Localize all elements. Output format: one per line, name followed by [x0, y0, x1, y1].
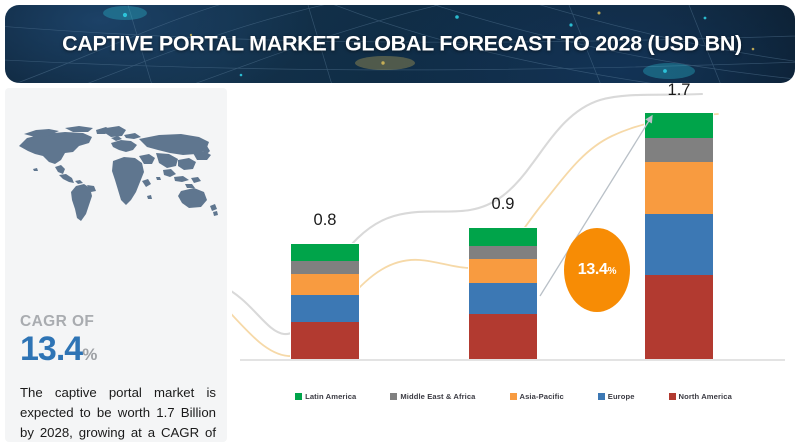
cagr-block: CAGR OF 13.4%: [20, 314, 220, 366]
legend-swatch-icon: [510, 393, 517, 400]
legend-label: Asia-Pacific: [520, 392, 564, 401]
legend-label: Middle East & Africa: [400, 392, 475, 401]
sidebar-description: The captive portal market is expected to…: [20, 383, 216, 447]
header-banner: CAPTIVE PORTAL MARKET GLOBAL FORECAST TO…: [5, 5, 795, 83]
legend-swatch-icon: [669, 393, 676, 400]
legend-item-middle-east-africa[interactable]: Middle East & Africa: [390, 392, 475, 401]
legend-item-latin-america[interactable]: Latin America: [295, 392, 356, 401]
chart-panel: 0.8 2022 0.9: [232, 88, 795, 442]
cagr-value: 13.4%: [20, 332, 220, 366]
cagr-percent-sign: %: [82, 345, 97, 364]
world-map-icon: [13, 110, 219, 240]
legend-label: North America: [679, 392, 732, 401]
cagr-bubble-badge[interactable]: 13.4%: [564, 228, 630, 312]
legend-label: Europe: [608, 392, 635, 401]
legend-item-north-america[interactable]: North America: [669, 392, 732, 401]
infographic-root: CAPTIVE PORTAL MARKET GLOBAL FORECAST TO…: [0, 0, 800, 447]
legend-swatch-icon: [295, 393, 302, 400]
plot-area: 0.8 2022 0.9: [232, 88, 795, 360]
legend-swatch-icon: [390, 393, 397, 400]
cagr-bubble-number: 13.4: [578, 261, 608, 278]
legend-item-europe[interactable]: Europe: [598, 392, 635, 401]
legend-label: Latin America: [305, 392, 356, 401]
legend-swatch-icon: [598, 393, 605, 400]
cagr-bubble-suffix: %: [608, 266, 617, 277]
world-map-svg: [13, 110, 219, 240]
cagr-number: 13.4: [20, 330, 82, 368]
sidebar-panel: CAGR OF 13.4% The captive portal market …: [5, 88, 227, 442]
chart-legend: Latin America Middle East & Africa Asia-…: [232, 392, 795, 401]
cagr-bubble-text: 13.4%: [578, 261, 617, 279]
legend-item-asia-pacific[interactable]: Asia-Pacific: [510, 392, 564, 401]
cagr-label: CAGR OF: [20, 314, 220, 330]
growth-arrow-svg: [232, 88, 795, 388]
growth-arrow: [232, 88, 795, 388]
page-title: CAPTIVE PORTAL MARKET GLOBAL FORECAST TO…: [5, 32, 795, 57]
